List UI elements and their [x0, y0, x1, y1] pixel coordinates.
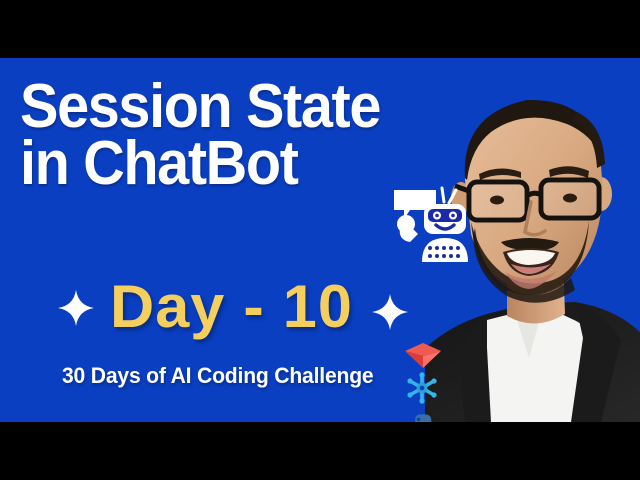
headline: Session State in ChatBot	[20, 78, 420, 192]
video-thumbnail: Session State in ChatBot	[0, 0, 640, 480]
subtitle: 30 Days of AI Coding Challenge	[62, 364, 373, 388]
python-logo-icon	[406, 413, 440, 422]
letterbox-top	[0, 0, 640, 58]
headline-line-2: in ChatBot	[20, 135, 392, 192]
thumbnail-stage: Session State in ChatBot	[0, 58, 640, 422]
chatbot-robot-icon	[392, 186, 470, 264]
day-badge-row: Day - 10	[0, 276, 470, 348]
day-badge-text: Day - 10	[110, 276, 353, 338]
sparkle-star-icon	[372, 294, 408, 330]
sparkle-star-icon	[58, 290, 94, 326]
headline-line-1: Session State	[20, 78, 392, 135]
streamlit-logo-icon	[405, 343, 441, 369]
letterbox-bottom	[0, 422, 640, 480]
snowflake-logo-icon	[404, 370, 440, 406]
